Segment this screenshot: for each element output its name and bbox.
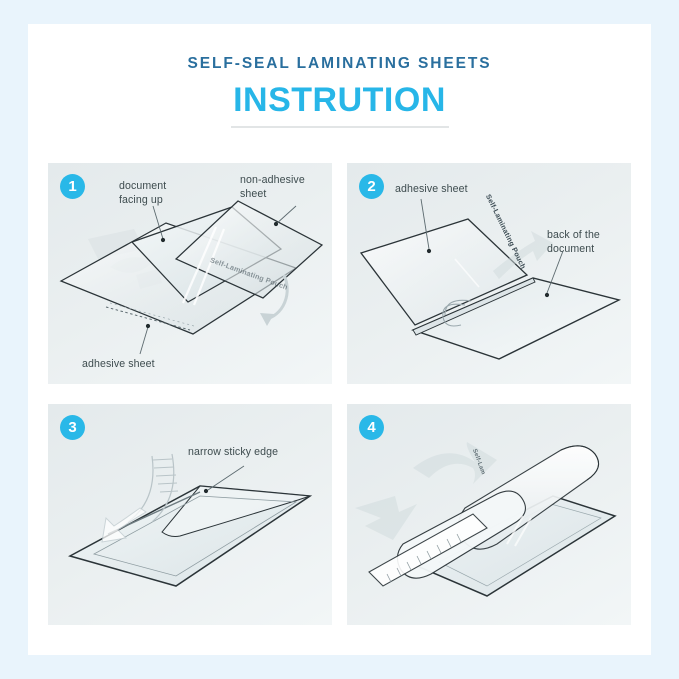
kicker-title: SELF-SEAL LAMINATING SHEETS: [28, 56, 651, 72]
label-document-facing-up: document facing up: [119, 180, 166, 207]
leader-lines-3: [208, 466, 244, 490]
page-title: INSTRUTION: [28, 83, 651, 117]
leader-dot-3: [146, 324, 150, 328]
step-number-badge-4: 4: [359, 415, 384, 440]
label-non-adhesive-sheet: non-adhesive sheet: [240, 174, 305, 201]
leader-dot-5: [545, 293, 549, 297]
page-header: SELF-SEAL LAMINATING SHEETS INSTRUTION: [28, 24, 651, 128]
step-panel-3: 3 narrow sticky edge: [48, 404, 332, 625]
label-adhesive-sheet-2: adhesive sheet: [395, 183, 468, 197]
leader-dot-1: [161, 238, 165, 242]
step-panel-2: 2 Self-Laminating Pouch adhesive sheet b…: [347, 163, 631, 384]
press-arrow: [355, 496, 417, 540]
leader-dot-6: [204, 489, 208, 493]
roll-arrow: [413, 442, 497, 484]
step-panel-4: 4 Self-Lam: [347, 404, 631, 625]
step-panel-1: 1 Self-Laminating Pouch document facing …: [48, 163, 332, 384]
step-4-illustration: [347, 404, 631, 625]
title-underline: [231, 126, 449, 128]
leader-dot-4: [427, 249, 431, 253]
label-adhesive-sheet: adhesive sheet: [82, 358, 155, 372]
step-number-badge-1: 1: [60, 174, 85, 199]
step-3-illustration: [48, 404, 332, 625]
step-number-badge-3: 3: [60, 415, 85, 440]
steps-grid: 1 Self-Laminating Pouch document facing …: [48, 163, 632, 625]
label-back-of-document: back of the document: [547, 229, 600, 256]
instruction-page: SELF-SEAL LAMINATING SHEETS INSTRUTION: [28, 24, 651, 655]
leader-dot-2: [274, 222, 278, 226]
rotate-arrow-head: [260, 313, 274, 326]
step-number-badge-2: 2: [359, 174, 384, 199]
label-narrow-sticky-edge: narrow sticky edge: [188, 446, 278, 460]
